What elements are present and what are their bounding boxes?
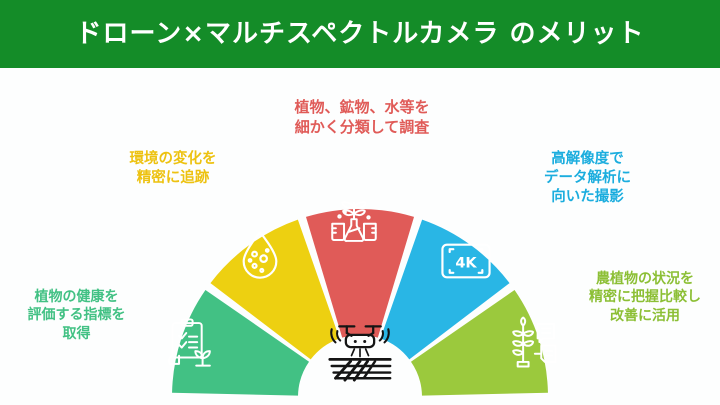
label-lightgreen-segment: 農植物の状況を 精密に把握比較し 改善に活用 bbox=[570, 270, 720, 325]
label-green-segment: 植物の健康を 評価する指標を 取得 bbox=[4, 288, 149, 343]
slide-canvas: ドローン×マルチスペクトルカメラ のメリット bbox=[0, 0, 720, 405]
drone-spraying-field-icon bbox=[322, 316, 398, 382]
page-title: ドローン×マルチスペクトルカメラ のメリット bbox=[76, 21, 645, 47]
header-banner: ドローン×マルチスペクトルカメラ のメリット bbox=[0, 0, 720, 68]
label-red-segment: 植物、鉱物、水等を 細かく分類して調査 bbox=[272, 98, 452, 138]
label-blue-segment: 高解像度で データ解析に 向いた撮影 bbox=[505, 150, 670, 207]
label-yellow-segment: 環境の変化を 精密に追跡 bbox=[88, 150, 258, 188]
